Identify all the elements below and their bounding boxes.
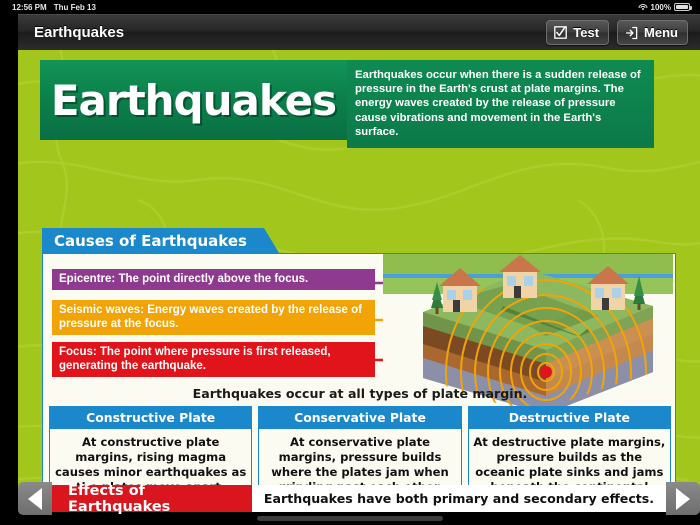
- battery-percent-label: 100%: [651, 3, 671, 12]
- test-button-label: Test: [573, 25, 599, 40]
- test-button[interactable]: Test: [546, 20, 609, 45]
- slide-header: Earthquakes Earthquakes occur when there…: [40, 60, 654, 148]
- battery-full-icon: [674, 3, 690, 11]
- arrow-left-icon: [28, 488, 42, 510]
- status-time: 12:56 PM: [12, 3, 47, 12]
- plate-margin-statement: Earthquakes occur at all types of plate …: [43, 386, 677, 401]
- next-slide-title-label: Effects of Earthquakes: [68, 483, 252, 515]
- status-left: 12:56 PM Thu Feb 13: [12, 3, 96, 12]
- callout-epicentre: Epicentre: The point directly above the …: [52, 269, 375, 290]
- app-title-bar: Earthquakes Test Menu: [18, 14, 700, 50]
- callout-epicentre-text: The point directly above the focus.: [115, 273, 308, 285]
- ios-status-bar: 12:56 PM Thu Feb 13 100%: [0, 0, 700, 14]
- content-panel: Epicentre: The point directly above the …: [42, 253, 676, 502]
- bottom-navigation-bar: Effects of Earthquakes Earthquakes have …: [18, 482, 700, 515]
- wifi-icon: [639, 4, 648, 11]
- slide-header-title: Earthquakes: [51, 76, 336, 125]
- slide-header-text-box: Earthquakes occur when there is a sudden…: [347, 60, 654, 148]
- card-destructive-plate-title: Destructive Plate: [469, 407, 670, 429]
- card-conservative-plate-title: Conservative Plate: [259, 407, 460, 429]
- menu-button[interactable]: Menu: [617, 20, 688, 45]
- next-slide-summary-label: Earthquakes have both primary and second…: [264, 491, 654, 506]
- callout-epicentre-term: Epicentre:: [59, 273, 115, 285]
- next-slide-title[interactable]: Effects of Earthquakes: [52, 485, 252, 512]
- left-bezel: [0, 14, 18, 525]
- slide-header-title-box: Earthquakes: [40, 60, 347, 140]
- section-tab-causes: Causes of Earthquakes: [42, 228, 279, 253]
- status-date: Thu Feb 13: [54, 3, 96, 12]
- lesson-slide: Earthquakes Earthquakes occur when there…: [18, 50, 700, 502]
- tablet-screen: 12:56 PM Thu Feb 13 100% Earthquakes Tes…: [0, 0, 700, 525]
- callout-focus-text: The point where pressure is first releas…: [59, 346, 331, 372]
- slide-intro-text: Earthquakes occur when there is a sudden…: [355, 68, 644, 139]
- status-right: 100%: [639, 3, 690, 12]
- callout-focus: Focus: The point where pressure is first…: [52, 342, 375, 377]
- exit-arrow-icon: [625, 26, 638, 40]
- section-tab-label: Causes of Earthquakes: [54, 232, 247, 250]
- arrow-right-icon: [676, 488, 690, 510]
- callout-seismic-waves-term: Seismic waves:: [59, 304, 144, 316]
- checkbox-checked-icon: [554, 26, 567, 39]
- next-slide-button[interactable]: [666, 482, 700, 515]
- callout-focus-term: Focus:: [59, 346, 97, 358]
- menu-button-label: Menu: [644, 25, 678, 40]
- page-title: Earthquakes: [34, 24, 124, 41]
- focus-marker: [540, 366, 552, 378]
- next-slide-summary: Earthquakes have both primary and second…: [252, 485, 666, 512]
- title-bar-actions: Test Menu: [546, 20, 688, 45]
- card-constructive-plate-title: Constructive Plate: [50, 407, 251, 429]
- previous-slide-button[interactable]: [18, 482, 52, 515]
- home-indicator[interactable]: [257, 516, 443, 521]
- callout-seismic-waves: Seismic waves: Energy waves created by t…: [52, 300, 375, 335]
